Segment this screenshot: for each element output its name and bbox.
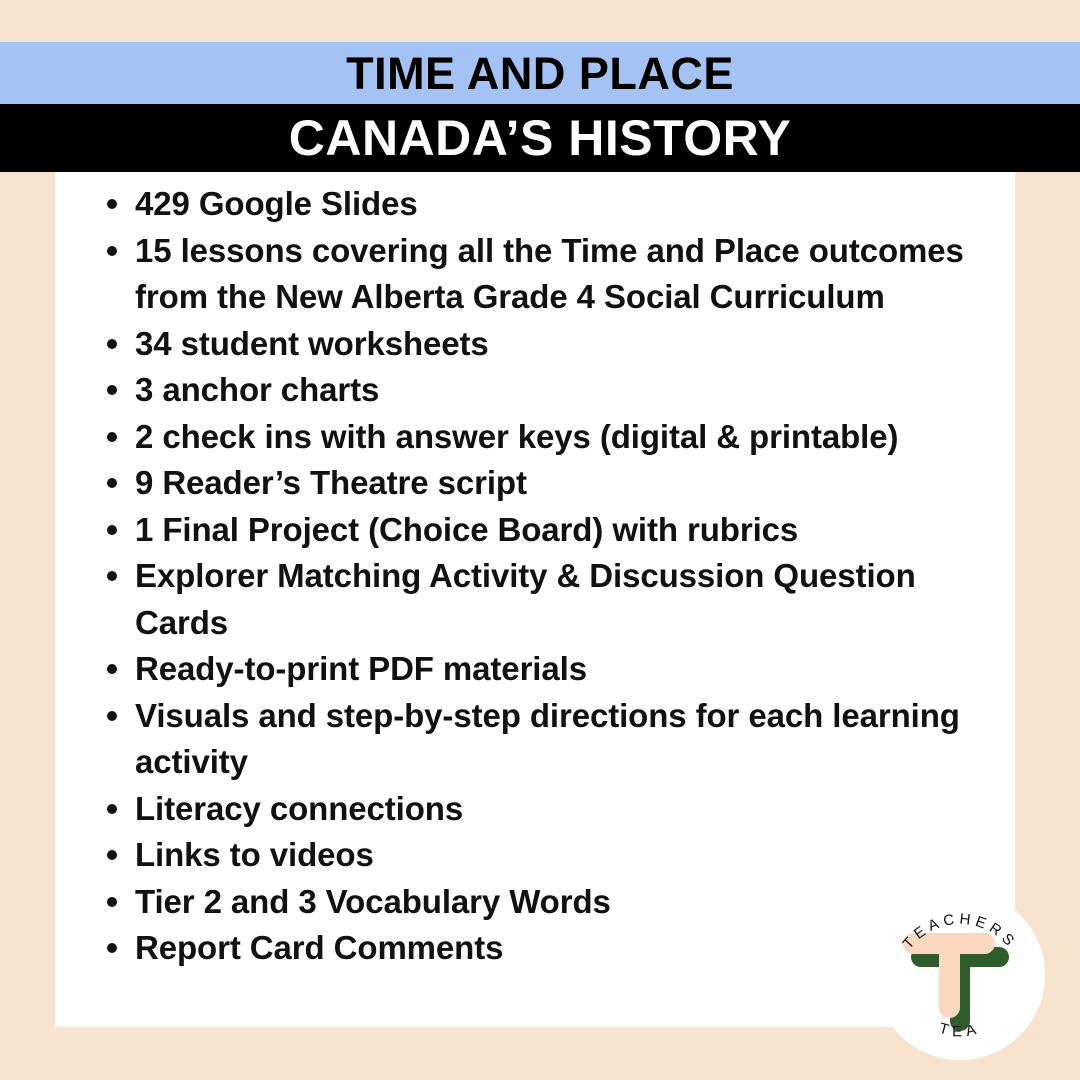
- feature-list-item: Tier 2 and 3 Vocabulary Words: [55, 879, 1015, 926]
- page-title-primary: TIME AND PLACE: [346, 51, 734, 96]
- feature-list-item-label: 15 lessons covering all the Time and Pla…: [135, 232, 964, 316]
- bullet-icon: [107, 711, 117, 721]
- feature-list-item: 9 Reader’s Theatre script: [55, 460, 1015, 507]
- feature-list-item-label: Literacy connections: [135, 790, 463, 827]
- feature-list-item: Ready-to-print PDF materials: [55, 646, 1015, 693]
- feature-list-item-label: Report Card Comments: [135, 929, 503, 966]
- feature-list-item-label: Tier 2 and 3 Vocabulary Words: [135, 883, 611, 920]
- banner-top-spacer: [0, 0, 1080, 42]
- bullet-icon: [107, 432, 117, 442]
- bullet-icon: [107, 199, 117, 209]
- content-card: 429 Google Slides15 lessons covering all…: [55, 172, 1015, 1027]
- feature-list-item-label: Explorer Matching Activity & Discussion …: [135, 557, 916, 641]
- feature-list-item: 15 lessons covering all the Time and Pla…: [55, 228, 1015, 321]
- bullet-icon: [107, 943, 117, 953]
- feature-list-item: 429 Google Slides: [55, 181, 1015, 228]
- feature-list-item: 3 anchor charts: [55, 367, 1015, 414]
- bullet-icon: [107, 897, 117, 907]
- feature-list-item-label: 3 anchor charts: [135, 371, 379, 408]
- bullet-icon: [107, 339, 117, 349]
- feature-list-item-label: Links to videos: [135, 836, 374, 873]
- header-banner: TIME AND PLACE CANADA’S HISTORY: [0, 0, 1080, 172]
- feature-list-item-label: Ready-to-print PDF materials: [135, 650, 587, 687]
- bullet-icon: [107, 850, 117, 860]
- feature-list-item: Report Card Comments: [55, 925, 1015, 972]
- feature-list-item-label: 34 student worksheets: [135, 325, 489, 362]
- bullet-icon: [107, 804, 117, 814]
- feature-list-item: 34 student worksheets: [55, 321, 1015, 368]
- bullet-icon: [107, 664, 117, 674]
- teachers-tea-logo: TEACHERS TEA: [875, 890, 1045, 1060]
- bullet-icon: [107, 478, 117, 488]
- feature-list-item: 2 check ins with answer keys (digital & …: [55, 414, 1015, 461]
- feature-list: 429 Google Slides15 lessons covering all…: [55, 181, 1015, 972]
- feature-list-item: 1 Final Project (Choice Board) with rubr…: [55, 507, 1015, 554]
- feature-list-item: Explorer Matching Activity & Discussion …: [55, 553, 1015, 646]
- feature-list-item-label: Visuals and step-by-step directions for …: [135, 697, 960, 781]
- feature-list-item: Literacy connections: [55, 786, 1015, 833]
- feature-list-item: Visuals and step-by-step directions for …: [55, 693, 1015, 786]
- feature-list-item-label: 1 Final Project (Choice Board) with rubr…: [135, 511, 798, 548]
- bullet-icon: [107, 525, 117, 535]
- title-bar-secondary: CANADA’S HISTORY: [0, 104, 1080, 172]
- bullet-icon: [107, 385, 117, 395]
- title-bar-primary: TIME AND PLACE: [0, 42, 1080, 104]
- feature-list-item: Links to videos: [55, 832, 1015, 879]
- bullet-icon: [107, 571, 117, 581]
- bullet-icon: [107, 246, 117, 256]
- feature-list-item-label: 2 check ins with answer keys (digital & …: [135, 418, 898, 455]
- feature-list-item-label: 9 Reader’s Theatre script: [135, 464, 527, 501]
- feature-list-item-label: 429 Google Slides: [135, 185, 418, 222]
- page-title-secondary: CANADA’S HISTORY: [289, 113, 792, 163]
